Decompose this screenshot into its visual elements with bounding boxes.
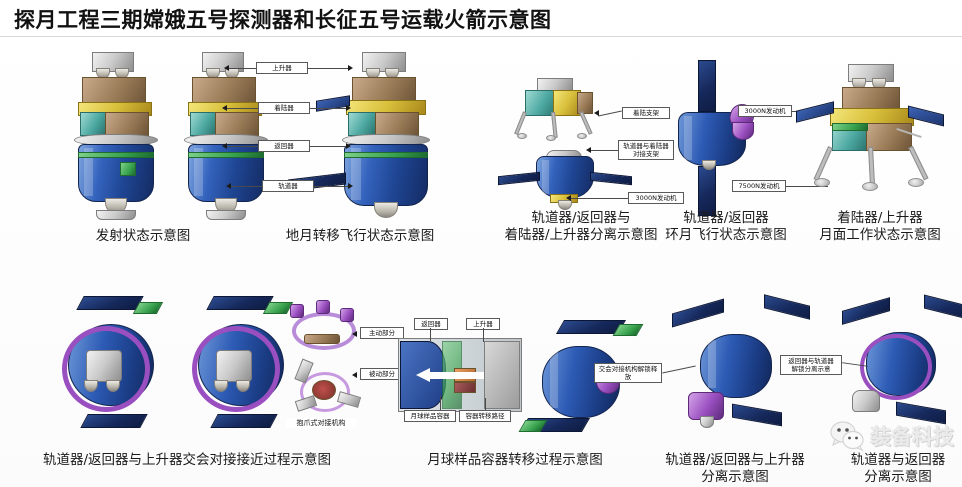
rz-panel-br [210, 414, 277, 428]
surface-leg-3 [908, 146, 928, 180]
diagram-canvas: 探月工程三期嫦娥五号探测器和长征五号运载火箭示意图 发射状态示意图 [0, 0, 962, 487]
sep-hl [708, 340, 716, 388]
launch-state-illustration [60, 52, 170, 217]
watermark: 装备科技 [830, 421, 954, 451]
leader-returner-small [430, 328, 431, 342]
leader-orbiter-right [314, 186, 348, 187]
orbiter-green-stripe [78, 152, 154, 158]
lander-brown-panel-3 [375, 112, 419, 136]
callout-ascender: 上升器 [256, 62, 308, 74]
lander-teal-panel-3 [348, 112, 376, 136]
orbiter-hl-lo [684, 116, 692, 160]
st-green-top [613, 324, 644, 336]
orbiter-green-stripe-2 [188, 152, 264, 158]
callout-returner: 返回器 [258, 140, 310, 152]
leader-orbiter-left [230, 186, 262, 187]
claw-2 [316, 300, 330, 314]
lander-ascender-group [515, 78, 605, 146]
lander-brown-5 [866, 123, 912, 151]
surface-foot-3 [908, 178, 924, 187]
returner-skirt-lo [732, 122, 754, 140]
passive-cone [312, 380, 336, 400]
landing-leg-3 [579, 111, 592, 135]
rz-panel-tl [76, 296, 143, 310]
callout-orbiter: 轨道器 [262, 180, 314, 192]
landing-foot-1 [517, 133, 527, 139]
base-ring-2 [206, 210, 246, 220]
arrow-passive-part [352, 372, 357, 378]
caption-transfer-state: 地月转移飞行状态示意图 [250, 228, 470, 245]
orbiter-hl-1 [542, 160, 549, 194]
title-divider [0, 36, 962, 37]
arrow-orbiter-left [226, 183, 231, 189]
landing-foot-3 [577, 133, 587, 139]
callout-sample-container: 月球样品容器 [404, 410, 456, 422]
leader-ascender-left [228, 68, 256, 69]
rz-core-left [86, 350, 122, 382]
leader-engine-3000n-a [570, 198, 628, 199]
arrow-ascender-left [224, 65, 229, 71]
arrow-returner-right [346, 143, 351, 149]
claw-1 [290, 304, 304, 318]
wechat-icon [830, 421, 864, 451]
lander-surface-illustration [812, 62, 942, 202]
lander-brown-panel-2 [215, 112, 259, 136]
orbiter-main-nozzle-3 [374, 202, 398, 218]
container-dock [454, 382, 476, 393]
leader-lander-right [310, 108, 346, 109]
arrow-lander-right [346, 105, 351, 111]
callout-returner-release: 返回器与轨道器 解锁分离示意 [780, 355, 842, 375]
launch-fairing-base [96, 210, 136, 220]
arrow-active-part [352, 331, 357, 337]
caption-sep-returner: 轨道器与返回器 分离示意图 [828, 452, 962, 486]
caption-launch-state: 发射状态示意图 [58, 228, 228, 245]
surface-foot-1 [814, 178, 830, 187]
lander-brown-panel [105, 112, 149, 136]
rz-panel-tr [206, 296, 273, 310]
arrow-dock-bracket [586, 147, 591, 153]
sep-panel-tl [672, 299, 724, 328]
callout-dock-release: 交会对接机构解锁释放 [594, 363, 662, 383]
surface-leg-2 [868, 147, 874, 185]
solar-panel-bot-lo [698, 166, 716, 216]
callout-claw-mechanism: 抱爪式对接机构 [286, 418, 356, 428]
claw-3 [340, 308, 354, 322]
callout-landing-gear: 着陆支架 [622, 107, 670, 119]
st-hl [550, 352, 558, 408]
arrow-lander-left [222, 105, 227, 111]
caption-sample-transfer: 月球样品容器转移过程示意图 [390, 452, 640, 469]
callout-transfer-path: 容器转移路径 [459, 410, 511, 422]
surface-foot-2 [862, 182, 878, 191]
lander-teal-panel-2 [190, 112, 216, 136]
transfer-arrow-head [416, 368, 430, 382]
sep-panel-bl [732, 404, 782, 427]
leader-returner-left [226, 146, 258, 147]
transfer-state-illustration-right [328, 52, 458, 222]
caption-surface-work: 着陆器/上升器 月面工作状态示意图 [800, 210, 960, 244]
watermark-text: 装备科技 [870, 421, 954, 451]
leader-ascender-small [483, 328, 484, 342]
docking-mechanism-passive [288, 360, 360, 416]
lander-brown-4 [577, 92, 593, 114]
arrow-orbiter-right [348, 183, 353, 189]
callout-engine-3000n-b: 3000N发动机 [738, 105, 792, 117]
leader-returner-right [310, 146, 346, 147]
orbiter-green-patch [120, 162, 136, 176]
landing-leg-1 [514, 111, 527, 135]
orbiter-green-stripe-3 [344, 152, 428, 158]
arrow-landing-gear [594, 110, 599, 116]
caption-lunar-orbit: 轨道器/返回器 环月飞行状态示意图 [646, 210, 806, 244]
rz-core-right [216, 350, 252, 382]
page-title: 探月工程三期嫦娥五号探测器和长征五号运载火箭示意图 [14, 4, 552, 34]
rz-panel-bl [80, 414, 147, 428]
arrow-returner-left [222, 143, 227, 149]
arrow-engine-3000n-a [566, 195, 571, 201]
caption-rendezvous: 轨道器/返回器与上升器交会对接接近过程示意图 [22, 452, 352, 469]
callout-returner-small: 返回器 [414, 318, 448, 330]
leader-sample-container [440, 396, 441, 410]
leader-lander-left [226, 108, 258, 109]
transfer-state-illustration-left [170, 52, 280, 217]
lander-teal-panel [80, 112, 106, 136]
caption-sep-ascender: 轨道器/返回器与上升器 分离示意图 [640, 452, 830, 486]
callout-engine-7500n: 7500N发动机 [732, 180, 786, 192]
landing-foot-2 [546, 135, 556, 141]
leader-transfer-path [485, 398, 486, 410]
lander-green-5 [832, 123, 868, 131]
sr-panel-tl [842, 297, 890, 325]
leader-ascender-right [308, 68, 348, 69]
callout-dock-bracket: 轨道器与着陆器 对接支架 [618, 140, 674, 160]
arrow-ascender-right [348, 65, 353, 71]
docking-mechanism-active [286, 300, 358, 352]
rendezvous-illustration-left [40, 296, 180, 436]
ascender-interior [484, 341, 520, 409]
leader-dock-bracket [590, 150, 618, 151]
sep-returner-scene [842, 300, 962, 440]
transfer-arrow [428, 372, 484, 379]
callout-lander: 着陆器 [258, 102, 310, 114]
claw-base [304, 334, 340, 344]
sr-returner [852, 390, 880, 412]
rz-green-tl [133, 302, 163, 314]
surface-leg-1 [814, 146, 833, 181]
sep-ascender-nozzle [700, 416, 714, 428]
sample-transfer-scene [398, 338, 520, 410]
solar-panel-top-lo [698, 60, 716, 112]
